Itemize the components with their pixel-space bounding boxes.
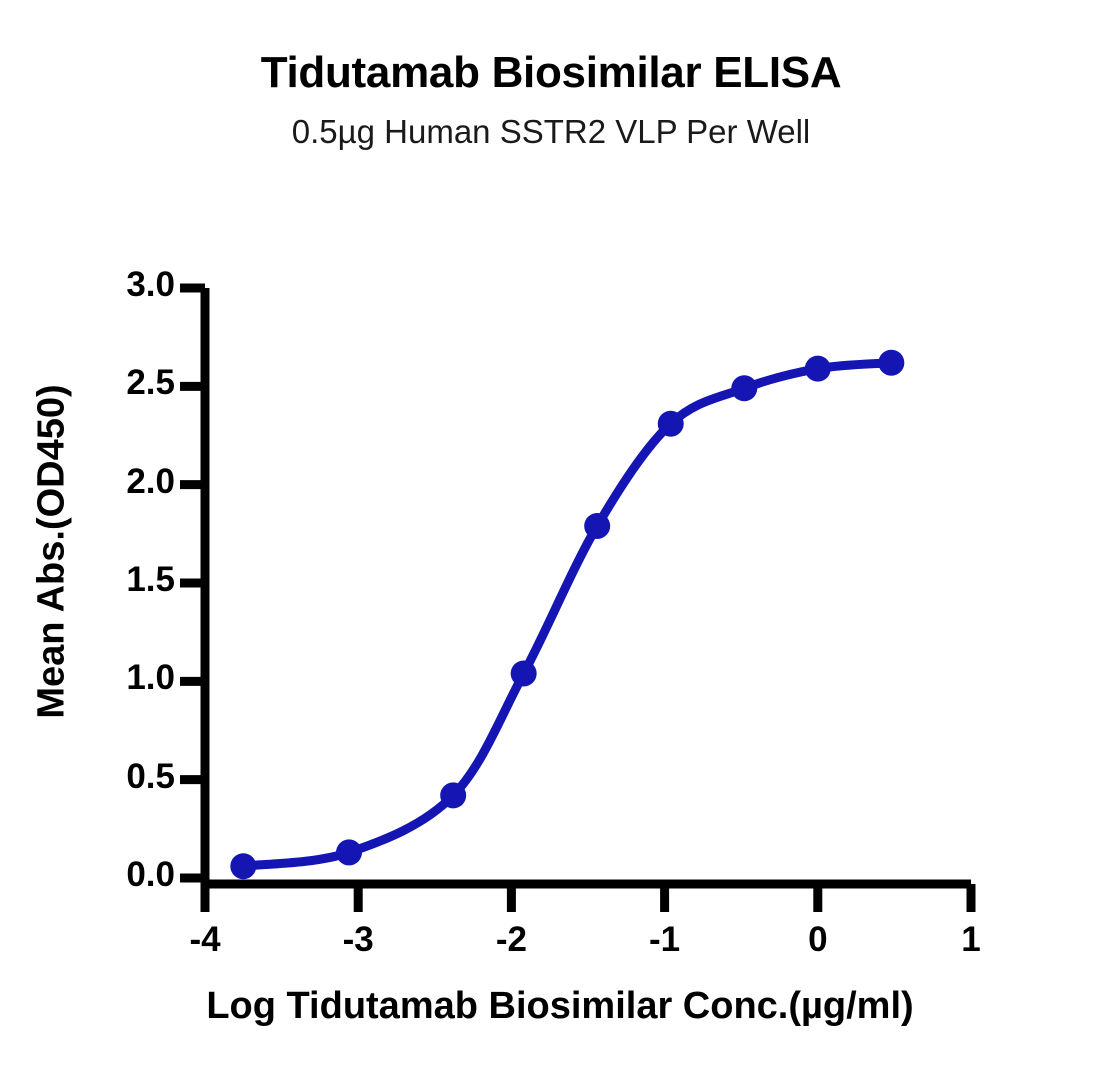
data-point-marker bbox=[658, 411, 684, 437]
y-tick-label: 2.0 bbox=[75, 462, 175, 502]
data-point-marker bbox=[731, 375, 757, 401]
data-point-marker bbox=[336, 839, 362, 865]
y-tick-label: 1.5 bbox=[75, 560, 175, 600]
data-markers bbox=[230, 350, 904, 879]
y-tick-label: 3.0 bbox=[75, 265, 175, 305]
plot-area: 0.00.51.01.52.02.53.0 -4-3-2-101 Mean Ab… bbox=[0, 0, 1102, 1087]
axes bbox=[201, 288, 971, 888]
data-point-marker bbox=[584, 513, 610, 539]
y-tick-label: 1.0 bbox=[75, 658, 175, 698]
data-point-marker bbox=[805, 356, 831, 382]
data-point-marker bbox=[440, 782, 466, 808]
data-point-marker bbox=[230, 853, 256, 879]
x-tick-label: 0 bbox=[778, 920, 858, 960]
x-tick-label: 1 bbox=[931, 920, 1011, 960]
chart-figure: Tidutamab Biosimilar ELISA 0.5µg Human S… bbox=[0, 0, 1102, 1087]
y-tick-label: 0.0 bbox=[75, 855, 175, 895]
fit-curve bbox=[243, 363, 891, 866]
data-point-marker bbox=[511, 660, 537, 686]
x-tick-label: -4 bbox=[165, 920, 245, 960]
y-tick-label: 0.5 bbox=[75, 757, 175, 797]
x-axis-title: Log Tidutamab Biosimilar Conc.(µg/ml) bbox=[60, 985, 1060, 1028]
data-point-marker bbox=[878, 350, 904, 376]
y-tick-label: 2.5 bbox=[75, 363, 175, 403]
x-tick-label: -1 bbox=[625, 920, 705, 960]
x-tick-label: -2 bbox=[471, 920, 551, 960]
x-tick-label: -3 bbox=[318, 920, 398, 960]
y-axis-title: Mean Abs.(OD450) bbox=[31, 332, 74, 772]
